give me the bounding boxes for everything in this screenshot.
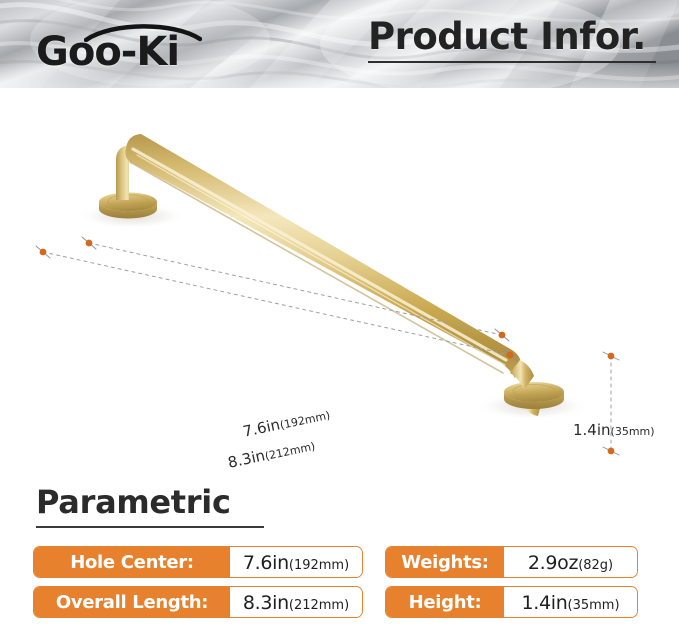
- spec-key-hole-center: Hole Center:: [34, 547, 230, 577]
- spec-value-height: 1.4in(35mm): [504, 587, 637, 617]
- spec-value-weights: 2.9oz(82g): [504, 547, 637, 577]
- spec-key-height: Height:: [386, 587, 504, 617]
- spec-value-main: 1.4in: [521, 592, 567, 614]
- parametric-heading: Parametric: [36, 486, 231, 518]
- spec-value-main: 8.3in: [243, 592, 289, 614]
- spec-key-overall-length: Overall Length:: [34, 587, 230, 617]
- spec-key-weights: Weights:: [386, 547, 504, 577]
- height-metric: (35mm): [611, 425, 655, 438]
- spec-value-metric: (82g): [578, 558, 613, 573]
- spec-badge-hole-center: Hole Center: 7.6in(192mm): [33, 546, 363, 578]
- dimension-line-overall-length: [36, 246, 517, 361]
- parametric-section: Parametric Hole Center: 7.6in(192mm) Wei…: [0, 476, 679, 635]
- page-title: Product Infor.: [368, 18, 664, 57]
- spec-value-main: 2.9oz: [528, 552, 578, 574]
- spec-row: Overall Length: 8.3in(212mm) Height: 1.4…: [33, 586, 649, 618]
- spec-badge-height: Height: 1.4in(35mm): [385, 586, 638, 618]
- spec-badge-weights: Weights: 2.9oz(82g): [385, 546, 638, 578]
- header-banner: Goo-Ki Product Infor.: [0, 0, 679, 88]
- spec-value-main: 7.6in: [243, 552, 289, 574]
- spec-row: Hole Center: 7.6in(192mm) Weights: 2.9oz…: [33, 546, 649, 578]
- dimension-line-height: [603, 352, 619, 455]
- product-illustration: [0, 88, 679, 476]
- spec-badge-overall-length: Overall Length: 8.3in(212mm): [33, 586, 363, 618]
- spec-value-metric: (212mm): [289, 598, 349, 613]
- product-image-stage: 7.6in(192mm) 8.3in(212mm) 1.4in(35mm): [0, 88, 679, 476]
- handle-bar: [125, 134, 521, 378]
- spec-table: Hole Center: 7.6in(192mm) Weights: 2.9oz…: [33, 546, 649, 626]
- brand-logo-text: Goo-Ki: [36, 32, 179, 72]
- spec-value-metric: (192mm): [289, 558, 349, 573]
- dimension-label-height: 1.4in(35mm): [573, 420, 655, 439]
- spec-value-overall-length: 8.3in(212mm): [230, 587, 362, 617]
- parametric-heading-underline: [36, 526, 264, 528]
- header-title-block: Product Infor.: [368, 18, 664, 63]
- spec-value-metric: (35mm): [568, 598, 620, 613]
- header-title-underline: [368, 61, 656, 63]
- height-value: 1.4in: [573, 421, 611, 439]
- spec-value-hole-center: 7.6in(192mm): [230, 547, 362, 577]
- brand-logo: Goo-Ki: [36, 24, 256, 80]
